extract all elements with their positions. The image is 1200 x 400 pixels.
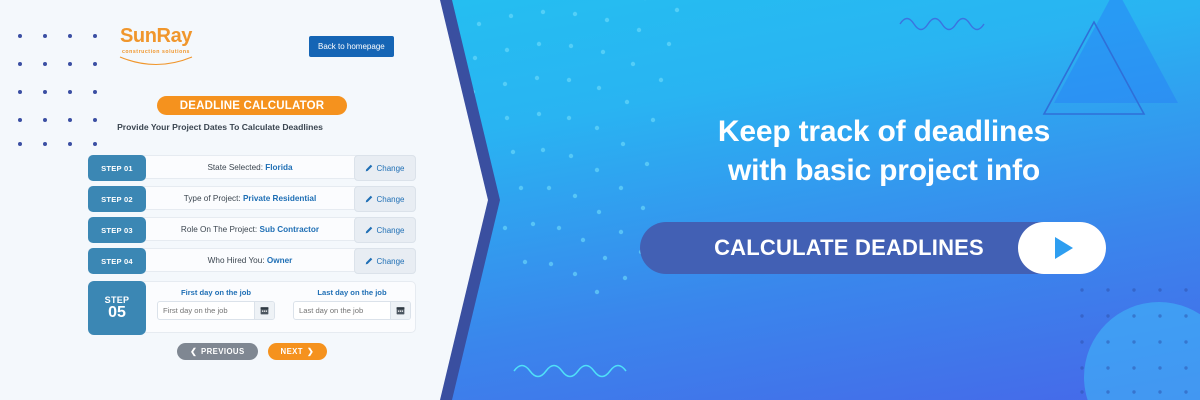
change-button[interactable]: Change <box>354 248 416 274</box>
sunray-logo[interactable]: SunRay construction solutions <box>108 26 204 70</box>
play-icon <box>1055 237 1073 259</box>
step-row: STEP 04 Who Hired You: Owner Change <box>88 248 416 272</box>
pencil-icon <box>365 226 373 234</box>
calculate-deadlines-button[interactable]: CALCULATE DEADLINES <box>640 222 1106 274</box>
step-row: STEP 02 Type of Project: Private Residen… <box>88 186 416 210</box>
steps-list: STEP 01 State Selected: Florida Change S… <box>88 155 416 360</box>
pencil-icon <box>365 257 373 265</box>
pencil-icon <box>365 164 373 172</box>
last-day-field: Last day on the job <box>293 288 411 320</box>
logo-wordmark: SunRay <box>108 26 204 46</box>
headline-line-1: Keep track of deadlines <box>634 112 1134 151</box>
date-fields: First day on the job Last day on the job <box>157 282 415 320</box>
step-row: STEP 01 State Selected: Florida Change <box>88 155 416 179</box>
step-badge: STEP 03 <box>88 217 146 243</box>
back-to-homepage-button[interactable]: Back to homepage <box>309 36 394 57</box>
step-summary: Role On The Project: Sub Contractor <box>147 225 353 234</box>
next-button[interactable]: NEXT ❯ <box>268 343 327 360</box>
step-label: Role On The Project: <box>181 225 257 234</box>
step-value: Sub Contractor <box>260 225 320 234</box>
logo-tagline: construction solutions <box>108 49 204 55</box>
step-label: Who Hired You: <box>208 256 265 265</box>
step-summary: State Selected: Florida <box>147 163 353 172</box>
change-label: Change <box>376 226 404 235</box>
cta-knob[interactable] <box>1018 222 1106 274</box>
logo-arc-icon <box>118 56 194 68</box>
form-navigation: ❮ PREVIOUS NEXT ❯ <box>88 343 416 360</box>
step-row-dates: STEP 05 First day on the job <box>88 281 416 333</box>
step-value: Florida <box>265 163 292 172</box>
last-day-label: Last day on the job <box>293 288 411 297</box>
cta-label: CALCULATE DEADLINES <box>640 235 1018 261</box>
dot-grid-right-decoration <box>1072 280 1200 400</box>
triangle-outline-decoration <box>1040 18 1148 118</box>
triangle-filled-decoration <box>1054 0 1178 103</box>
previous-button[interactable]: ❮ PREVIOUS <box>177 343 257 360</box>
step-badge: STEP 02 <box>88 186 146 212</box>
step-summary: Who Hired You: Owner <box>147 256 353 265</box>
step-label: State Selected: <box>207 163 263 172</box>
deadline-calculator-form: SunRay construction solutions Back to ho… <box>0 0 440 400</box>
step-badge: STEP 04 <box>88 248 146 274</box>
step-badge-number: 05 <box>108 305 126 322</box>
last-day-input-wrap <box>293 301 411 320</box>
page-subtitle: Provide Your Project Dates To Calculate … <box>0 122 440 132</box>
change-label: Change <box>376 257 404 266</box>
page-title: DEADLINE CALCULATOR <box>157 96 347 115</box>
first-day-input[interactable] <box>158 302 254 319</box>
pencil-icon <box>365 195 373 203</box>
circle-decoration <box>1084 302 1200 400</box>
step-badge: STEP 01 <box>88 155 146 181</box>
headline-line-2: with basic project info <box>634 151 1134 190</box>
change-button[interactable]: Change <box>354 217 416 243</box>
change-label: Change <box>376 164 404 173</box>
change-button[interactable]: Change <box>354 186 416 212</box>
wave-line-top-decoration <box>898 12 1008 34</box>
previous-label: PREVIOUS <box>201 347 245 356</box>
next-label: NEXT <box>281 347 303 356</box>
wave-line-bottom-decoration <box>512 360 644 382</box>
step-row: STEP 03 Role On The Project: Sub Contrac… <box>88 217 416 241</box>
chevron-right-icon: ❯ <box>307 347 314 356</box>
first-day-label: First day on the job <box>157 288 275 297</box>
first-day-field: First day on the job <box>157 288 275 320</box>
banner-headline: Keep track of deadlines with basic proje… <box>634 112 1134 190</box>
calendar-icon[interactable] <box>254 302 274 319</box>
step-summary: Type of Project: Private Residential <box>147 194 353 203</box>
change-button[interactable]: Change <box>354 155 416 181</box>
promo-banner: SunRay construction solutions Back to ho… <box>0 0 1200 400</box>
step-value: Private Residential <box>243 194 316 203</box>
step-label: Type of Project: <box>184 194 241 203</box>
step-value: Owner <box>267 256 292 265</box>
chevron-left-icon: ❮ <box>190 347 197 356</box>
step-badge: STEP 05 <box>88 281 146 335</box>
calendar-icon[interactable] <box>390 302 410 319</box>
change-label: Change <box>376 195 404 204</box>
last-day-input[interactable] <box>294 302 390 319</box>
first-day-input-wrap <box>157 301 275 320</box>
